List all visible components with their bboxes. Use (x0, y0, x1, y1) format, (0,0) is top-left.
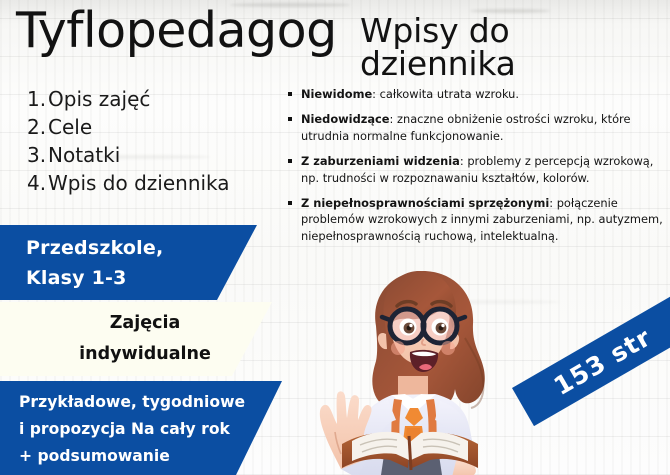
list-item: Z niepełnosprawnościami sprzężonymi: poł… (287, 195, 665, 244)
list-item-number: 1. (27, 86, 48, 112)
list-item-label: Notatki (48, 142, 120, 168)
definition-separator: : (372, 87, 379, 101)
page-title: Tyflopedagog (16, 6, 337, 55)
list-item-number: 2. (27, 114, 48, 140)
list-item: Niewidome: całkowita utrata wzroku. (287, 86, 665, 102)
format-line-2: indywidualne (31, 339, 259, 370)
list-item: 2. Cele (27, 114, 257, 140)
list-item: 1. Opis zajęć (27, 86, 257, 112)
list-item-number: 4. (27, 170, 48, 196)
list-item: 3. Notatki (27, 142, 257, 168)
list-item-label: Cele (48, 114, 92, 140)
scope-line-1: Przykładowe, tygodniowe (19, 389, 300, 416)
girl-with-book-pointing-up-icon (280, 268, 542, 475)
list-item-label: Opis zajęć (48, 86, 150, 112)
definition-term: Niedowidzące (301, 112, 390, 126)
definition-term: Niewidome (301, 87, 372, 101)
list-item: Z zaburzeniami widzenia: problemy z perc… (287, 153, 665, 186)
definition-separator: : (549, 196, 556, 210)
definition-separator: : (390, 112, 397, 126)
list-item-number: 3. (27, 142, 48, 168)
page-subtitle: Wpisy do dziennika (360, 14, 670, 80)
definition-term: Z zaburzeniami widzenia (301, 154, 460, 168)
definition-text: całkowita utrata wzroku. (380, 87, 519, 101)
list-item-label: Wpis do dziennika (48, 170, 230, 196)
list-item: 4. Wpis do dziennika (27, 170, 257, 196)
poster-canvas: Tyflopedagog Wpisy do dziennika 1. Opis … (0, 0, 670, 475)
format-line-1: Zajęcia (31, 308, 259, 339)
list-item: Niedowidzące: znaczne obniżenie ostrości… (287, 111, 665, 144)
contents-list: 1. Opis zajęć 2. Cele 3. Notatki 4. Wpis… (27, 86, 257, 198)
definitions-list: Niewidome: całkowita utrata wzroku. Nied… (287, 86, 665, 253)
definition-term: Z niepełnosprawnościami sprzężonymi (301, 196, 549, 210)
